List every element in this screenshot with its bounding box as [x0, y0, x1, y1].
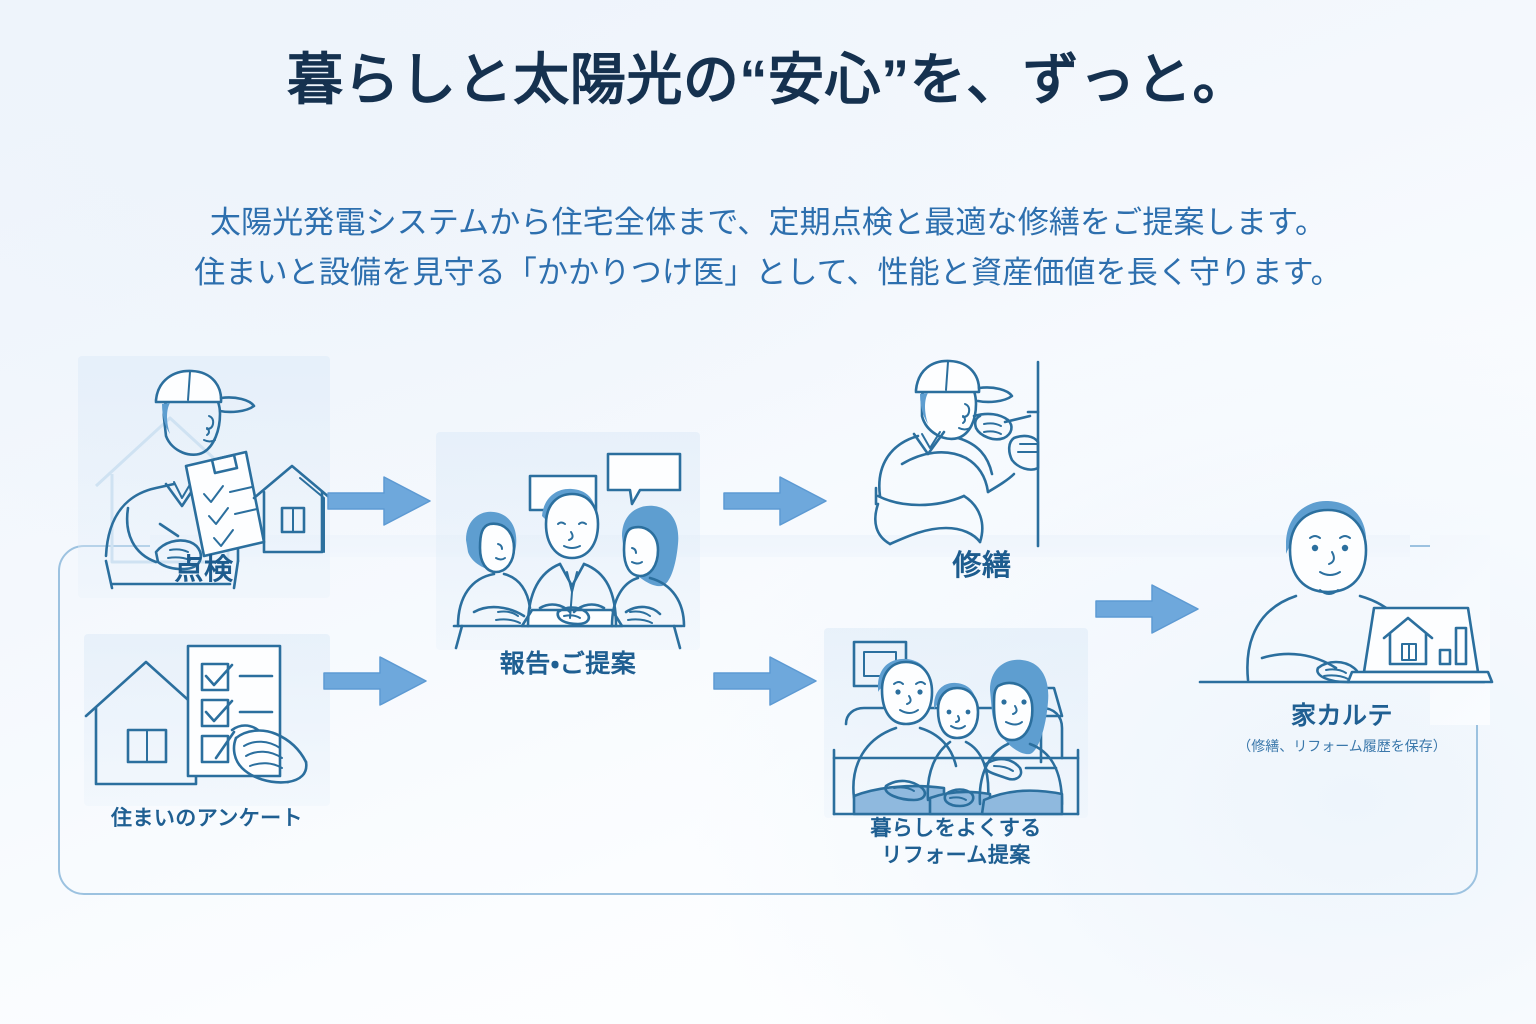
slide-canvas: 暮らしと太陽光の“安心”を、ずっと。 太陽光発電システムから住宅全体まで、定期点… — [0, 0, 1536, 1024]
arrow-repair-to-house-chart — [1094, 578, 1204, 640]
page-title: 暮らしと太陽光の“安心”を、ずっと。 — [0, 48, 1536, 112]
caption-reform-line-2: リフォーム提案 — [824, 843, 1088, 870]
caption-questionnaire: 住まいのアンケート — [84, 806, 330, 833]
subtitle-line-1: 太陽光発電システムから住宅全体まで、定期点検と最適な修繕をご提案します。 — [0, 198, 1536, 248]
illustration-questionnaire — [84, 634, 330, 806]
caption-inspection: 点検 — [78, 552, 330, 589]
caption-reform: 暮らしをよくする リフォーム提案 — [824, 816, 1088, 870]
page-subtitle: 太陽光発電システムから住宅全体まで、定期点検と最適な修繕をご提案します。 住まい… — [0, 198, 1536, 298]
caption-house-chart: 家カルテ （修繕、リフォーム履歴を保存） — [1192, 700, 1492, 756]
caption-reform-line-1: 暮らしをよくする — [824, 816, 1088, 843]
arrow-questionnaire-to-report — [322, 650, 432, 712]
illustration-repair — [862, 356, 1102, 546]
caption-house-chart-label: 家カルテ — [1291, 702, 1393, 730]
arrow-report-to-repair — [722, 470, 832, 532]
illustration-house-chart — [1192, 492, 1492, 698]
caption-report: 報告・ご提案 — [436, 648, 700, 680]
arrow-report-to-reform — [712, 650, 822, 712]
arrow-inspection-to-report — [326, 470, 436, 532]
subtitle-line-2: 住まいと設備を見守る「かかりつけ医」として、性能と資産価値を長く守ります。 — [0, 248, 1536, 298]
caption-repair: 修繕 — [862, 548, 1102, 585]
illustration-report — [436, 432, 700, 650]
caption-house-chart-note: （修繕、リフォーム履歴を保存） — [1192, 738, 1492, 756]
illustration-reform — [824, 628, 1088, 818]
